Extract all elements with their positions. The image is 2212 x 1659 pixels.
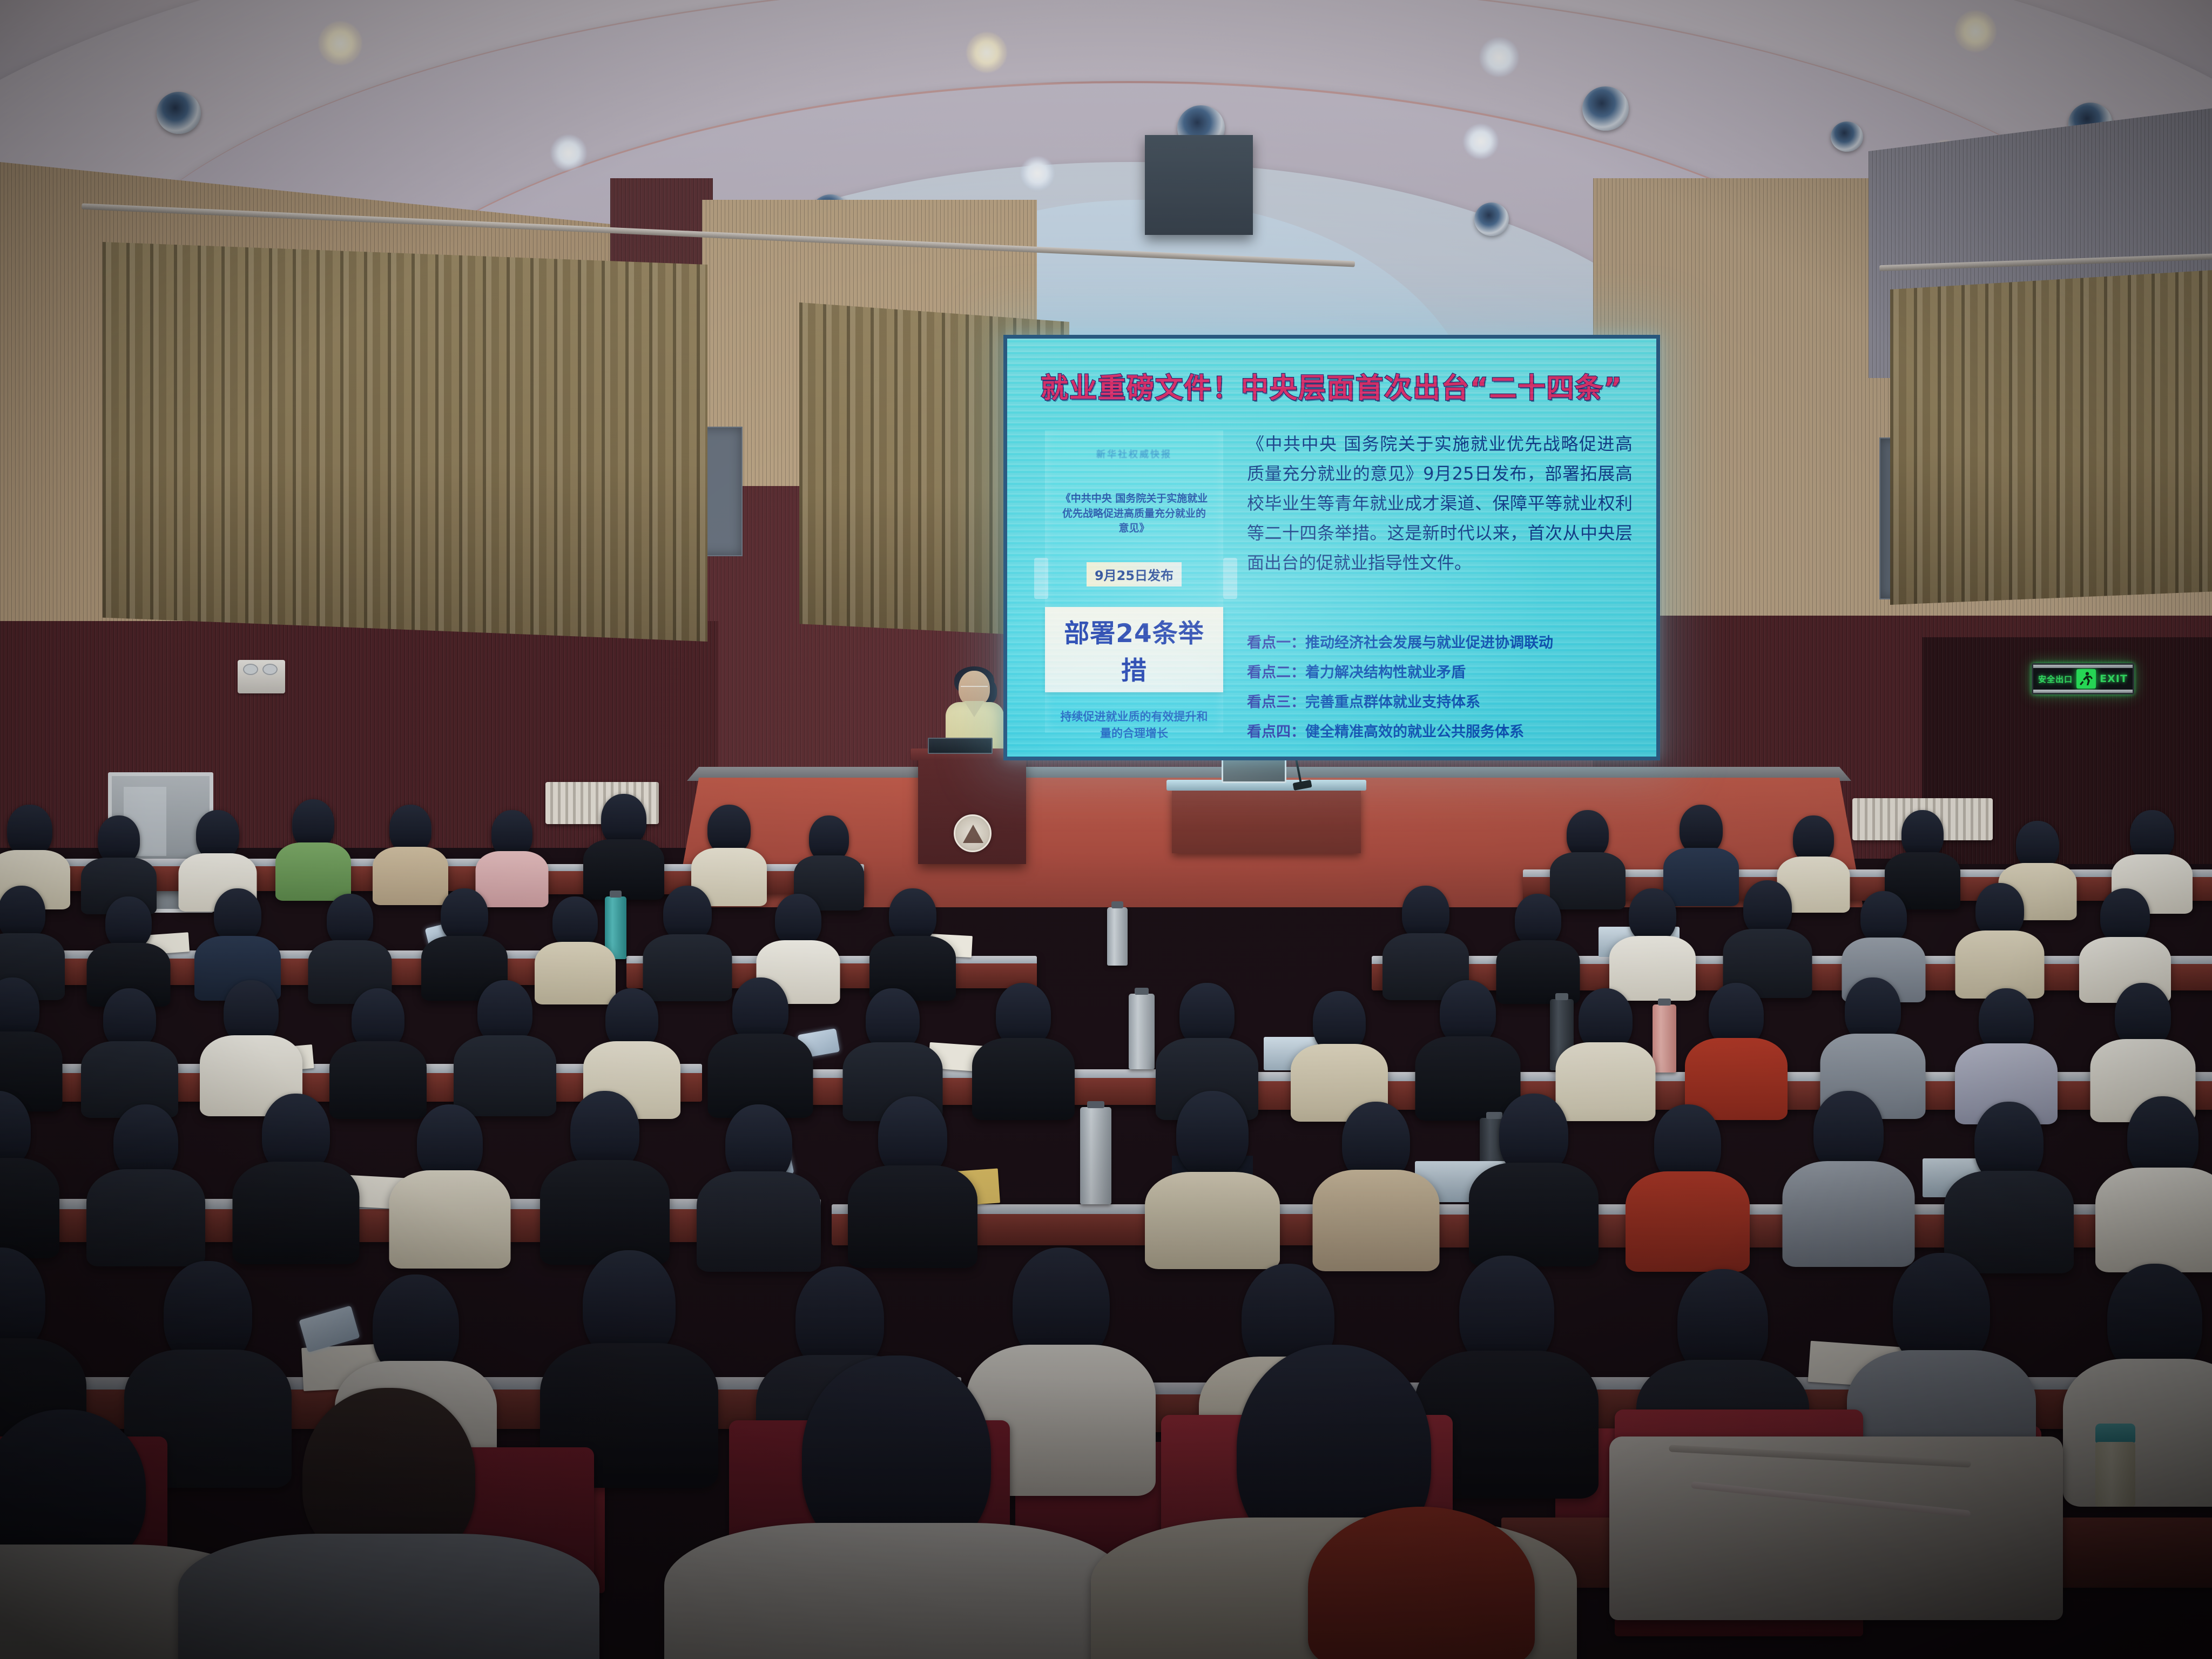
slide-info-card: 新华社权威快报 《中共中央 国务院关于实施就业优先战略促进高质量充分就业的意见》… <box>1045 430 1223 733</box>
person-head <box>292 799 334 849</box>
person-head <box>214 888 261 942</box>
podium-confidence-monitor <box>928 738 993 754</box>
person-head <box>491 810 532 858</box>
audience-member <box>1685 983 1788 1118</box>
water-bottle <box>1107 907 1128 966</box>
person-head <box>889 888 936 942</box>
card-tab-right <box>1223 558 1237 599</box>
audience-member-foreground <box>664 1355 1129 1659</box>
audience-member <box>794 815 864 902</box>
audience-member <box>2095 1096 2212 1269</box>
person-torso <box>664 1523 1129 1659</box>
backpack <box>1609 1437 2063 1620</box>
person-torso <box>1145 1172 1280 1269</box>
person-head <box>2100 888 2150 945</box>
person-head <box>1743 880 1792 936</box>
person-torso <box>2063 1359 2212 1507</box>
audience-member <box>0 1091 59 1253</box>
card-tab-left <box>1034 558 1048 599</box>
person-head <box>105 896 152 949</box>
slide-body: 新华社权威快报 《中共中央 国务院关于实施就业优先战略促进高质量充分就业的意见》… <box>1007 420 1656 757</box>
slide-title: 就业重磅文件！中央层面首次出台“二十四条” <box>1007 366 1656 406</box>
audience-member <box>81 988 178 1112</box>
person-head <box>1402 886 1449 941</box>
audience-member <box>1723 880 1812 996</box>
audience-member <box>2063 1264 2212 1501</box>
person-hood <box>1308 1507 1535 1659</box>
person-head <box>1515 894 1561 947</box>
desk-lip <box>1523 869 2212 877</box>
person-head <box>1860 891 1907 944</box>
audience-member <box>540 1091 670 1261</box>
person-head <box>1680 805 1723 854</box>
audience-member <box>1550 810 1626 899</box>
audience-member <box>1955 883 2044 996</box>
person-torso <box>540 1160 670 1265</box>
thermos-bottle <box>1080 1107 1111 1204</box>
ceiling-downlight <box>1021 157 1054 190</box>
ceiling-spotlight <box>1582 86 1629 131</box>
audience-member <box>1291 991 1388 1118</box>
audience-member <box>1145 1091 1280 1264</box>
person-head <box>1901 810 1944 859</box>
bullet-lead: 看点二： <box>1247 664 1305 681</box>
thermos-bottle <box>2095 1442 2135 1507</box>
person-head <box>2130 810 2174 861</box>
person-head <box>663 886 712 942</box>
audience-member-foreground <box>178 1388 599 1659</box>
person-head <box>389 805 431 853</box>
audience-member <box>972 983 1075 1118</box>
audience-member <box>373 805 448 894</box>
card-document-title: 《中共中央 国务院关于实施就业优先战略促进高质量充分就业的意见》 <box>1059 491 1209 536</box>
bullet-text: 健全精准高效的就业公共服务体系 <box>1305 724 1524 740</box>
exit-sign-bottom-bar <box>2033 690 2133 693</box>
ceiling-downlight <box>1464 124 1498 159</box>
audience-member <box>1955 988 2058 1121</box>
person-torso <box>275 842 351 901</box>
audience-member <box>707 977 813 1115</box>
running-person-icon <box>2076 669 2096 689</box>
audience-seating-area <box>0 772 2212 1659</box>
audience-member <box>1312 1102 1439 1266</box>
water-bottle <box>1653 1004 1676 1073</box>
card-date-badge: 9月25日发布 <box>1087 562 1182 586</box>
person-torso <box>2095 1168 2212 1272</box>
person-head <box>196 810 239 860</box>
audience-member <box>848 1096 977 1264</box>
card-subtitle: 持续促进就业质的有效提升和量的合理增长 <box>1058 709 1210 743</box>
person-head <box>2016 821 2059 869</box>
audience-member <box>308 894 392 999</box>
person-torso <box>232 1162 359 1264</box>
person-head <box>1793 815 1834 863</box>
person-head <box>1176 1091 1249 1177</box>
audience-member <box>232 1094 359 1258</box>
person-torso <box>848 1165 977 1268</box>
bullet-text: 推动经济社会发展与就业促进协调联动 <box>1305 635 1553 651</box>
audience-member <box>0 977 62 1107</box>
bullet-text: 着力解决结构性就业矛盾 <box>1305 664 1466 681</box>
person-torso <box>86 1169 205 1266</box>
person-torso <box>1469 1163 1599 1266</box>
person-head <box>552 896 598 948</box>
exit-sign: 安全出口 EXIT <box>2032 663 2134 694</box>
audience-member <box>1609 888 1696 996</box>
person-head <box>707 805 751 854</box>
ceiling-downlight <box>1955 11 1996 52</box>
window-curtain-right <box>1890 270 2212 605</box>
slide-bullet-list: 看点一：推动经济社会发展与就业促进协调联动 看点二：着力解决结构性就业矛盾 看点… <box>1247 636 1640 754</box>
bullet-lead: 看点三： <box>1247 694 1305 711</box>
audience-member <box>81 815 157 902</box>
bullet-text: 完善重点群体就业支持体系 <box>1305 694 1480 711</box>
person-head <box>601 794 646 846</box>
audience-member <box>0 805 70 896</box>
audience-member <box>1885 810 1960 899</box>
person-torso <box>178 1534 599 1659</box>
projection-screen: 就业重磅文件！中央层面首次出台“二十四条” 新华社权威快报 《中共中央 国务院关… <box>1003 335 1660 760</box>
audience-member <box>475 810 548 896</box>
thermos-bottle <box>1129 994 1155 1069</box>
audience-member <box>86 896 170 999</box>
ceiling-spotlight <box>157 92 201 134</box>
person-head <box>98 815 140 864</box>
slide-bullet-item: 看点一：推动经济社会发展与就业促进协调联动 <box>1247 636 1640 650</box>
person-head <box>0 886 45 941</box>
backpack-zipper <box>1691 1481 1971 1518</box>
emergency-light-fixture <box>238 660 285 693</box>
audience-member <box>1944 1102 2074 1269</box>
audience-member <box>389 1104 510 1264</box>
person-torso <box>972 1038 1075 1120</box>
card-kicker: 新华社权威快报 <box>1045 447 1223 460</box>
audience-member <box>178 810 257 899</box>
card-headline: 部署24条举措 <box>1045 607 1223 692</box>
person-head <box>7 805 52 857</box>
ceiling-projector-housing <box>1145 135 1253 235</box>
ceiling-spotlight <box>1831 122 1863 152</box>
ceiling-downlight <box>551 135 586 171</box>
audience-member <box>1626 1104 1750 1266</box>
audience-member <box>275 799 351 891</box>
audience-member <box>869 888 956 996</box>
person-torso <box>389 1170 510 1269</box>
backpack-strap <box>1669 1445 1971 1467</box>
exit-sign-top-bar <box>2033 664 2133 668</box>
projected-slide: 就业重磅文件！中央层面首次出台“二十四条” 新华社权威快报 《中共中央 国务院关… <box>1007 339 1656 757</box>
card-date-row: 9月25日发布 <box>1045 562 1223 586</box>
bullet-lead: 看点四： <box>1247 724 1305 740</box>
audience-member-foreground <box>1091 1345 1577 1659</box>
person-head <box>327 894 373 947</box>
audience-member <box>583 794 664 891</box>
audience-member <box>200 980 302 1112</box>
slide-bullet-item: 看点三：完善重点群体就业支持体系 <box>1247 695 1640 710</box>
audience-member <box>1469 1094 1599 1264</box>
lecture-hall-scene: 消防栓 安全出口 EXIT <box>0 0 2212 1659</box>
card-headline-row: 部署24条举措 <box>1045 607 1223 692</box>
audience-member <box>1782 1091 1914 1264</box>
person-head <box>1629 888 1676 942</box>
person-torso <box>0 1158 59 1258</box>
thermos-lid <box>2095 1424 2135 1443</box>
person-torso <box>1782 1161 1914 1267</box>
bullet-lead: 看点一： <box>1247 635 1305 651</box>
slide-bullet-item: 看点二：着力解决结构性就业矛盾 <box>1247 665 1640 680</box>
person-head <box>775 894 821 947</box>
presenter-glasses <box>961 686 988 692</box>
person-head <box>1975 883 2024 938</box>
person-head <box>103 988 156 1050</box>
ceiling-downlight <box>967 32 1007 72</box>
exit-sign-label-cn: 安全出口 <box>2038 673 2073 685</box>
exit-sign-label-en: EXIT <box>2100 673 2128 685</box>
audience-member <box>86 1104 205 1261</box>
slide-bullet-item: 看点四：健全精准高效的就业公共服务体系 <box>1247 725 1640 739</box>
ceiling-downlight <box>1480 38 1519 77</box>
audience-member <box>697 1104 821 1266</box>
ceiling-downlight <box>319 22 362 65</box>
person-head <box>1567 810 1609 859</box>
person-head <box>441 888 488 942</box>
window-curtain-left <box>103 242 707 642</box>
ceiling-spotlight <box>1474 203 1509 236</box>
slide-paragraph: 《中共中央 国务院关于实施就业优先战略促进高质量充分就业的意见》9月25日发布，… <box>1247 429 1633 578</box>
person-torso <box>1626 1171 1750 1272</box>
audience-member <box>691 805 767 896</box>
